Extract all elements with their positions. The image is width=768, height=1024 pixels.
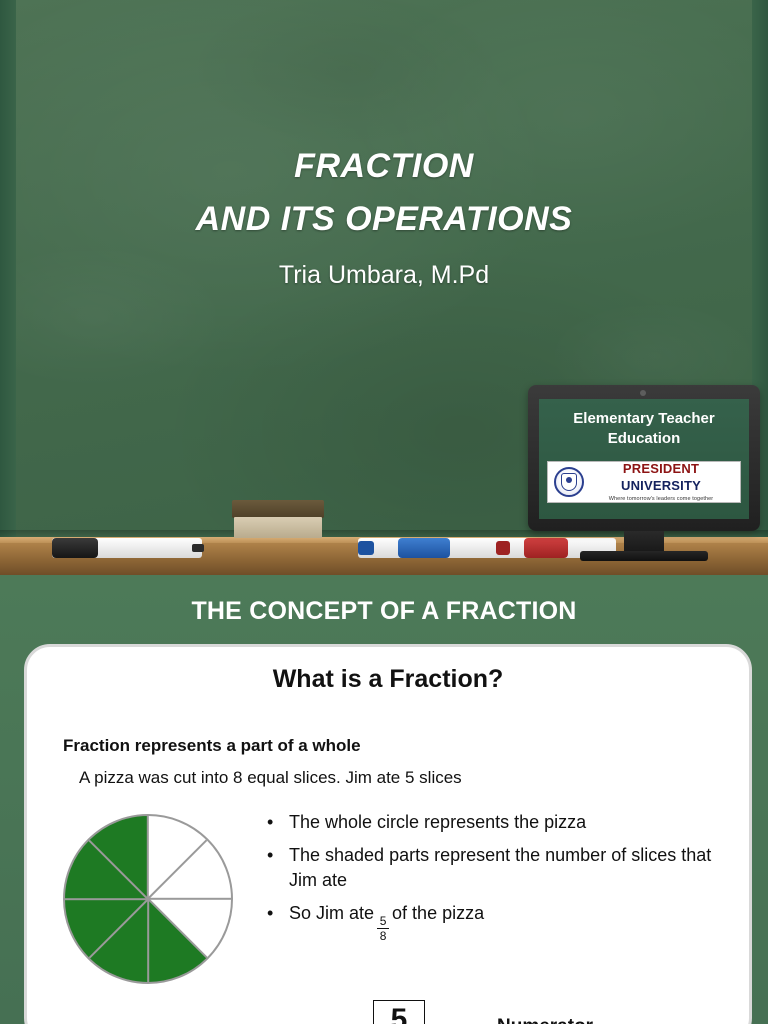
numerator-label: Numerator [497,1016,593,1024]
slide2-heading: THE CONCEPT OF A FRACTION [0,597,768,626]
marker-tip [192,544,204,552]
list-item: • The shaded parts represent the number … [267,843,737,892]
marker-blue [358,538,510,558]
pie-spoke [148,898,231,900]
list-item: • The whole circle represents the pizza [267,810,737,834]
example-statement: A pizza was cut into 8 equal slices. Jim… [79,768,749,788]
bullet-marker-icon: • [267,810,289,834]
university-name-university: UNIVERSITY [621,478,701,493]
monitor-stand-base [580,551,708,561]
bullet-marker-icon: • [267,901,289,942]
list-item: • So Jim ate58of the pizza [267,901,737,942]
bullet-marker-icon: • [267,843,289,892]
bullet-text-2: The shaded parts represent the number of… [289,843,737,892]
monitor-caption: Elementary Teacher Education [539,399,749,448]
pie-spoke [147,816,149,899]
eraser [232,500,324,538]
eraser-felt [234,517,322,538]
bullet-text-3: So Jim ate58of the pizza [289,901,484,942]
pie-spoke [147,899,149,982]
eraser-top [232,500,324,518]
university-name-president: PRESIDENT [623,461,699,476]
numerator-callout-box: 5 [373,1000,425,1024]
marker-cap [398,538,450,558]
body-row: • The whole circle represents the pizza … [27,810,749,1024]
marker-cap [52,538,98,558]
monitor-screen: Elementary Teacher Education PRESIDENT U… [539,399,749,519]
presentation-author: Tria Umbara, M.Pd [0,261,768,290]
monitor-stand-neck [624,531,664,553]
inline-fraction: 58 [377,915,389,942]
bullet-list: • The whole circle represents the pizza … [267,810,737,951]
pizza-pie-diagram [63,814,233,984]
crest-star [566,477,572,483]
university-tagline: Where tomorrow's leaders come together [586,497,736,503]
slide-title-chalkboard: FRACTION AND ITS OPERATIONS Tria Umbara,… [0,0,768,575]
presentation-title-line2: AND ITS OPERATIONS [0,193,768,246]
monitor: Elementary Teacher Education PRESIDENT U… [528,385,760,565]
inline-fraction-numerator: 5 [380,915,387,927]
pie-spoke [65,898,148,900]
marker-tip [496,541,510,555]
monitor-caption-line2: Education [539,429,749,449]
bullet-text-1: The whole circle represents the pizza [289,810,586,834]
lead-statement: Fraction represents a part of a whole [63,736,749,756]
university-wordmark: PRESIDENT UNIVERSITY Where tomorrow's le… [586,461,736,502]
inline-fraction-denominator: 8 [380,930,387,942]
title-block: FRACTION AND ITS OPERATIONS Tria Umbara,… [0,140,768,290]
slide-concept-of-fraction: THE CONCEPT OF A FRACTION What is a Frac… [0,575,768,1024]
content-card: What is a Fraction? Fraction represents … [24,644,752,1024]
webcam-icon [640,390,646,396]
numerator-value: 5 [391,1003,408,1024]
bullet-text-3-suffix: of the pizza [392,903,484,923]
monitor-caption-line1: Elementary Teacher [539,409,749,429]
presentation-title-line1: FRACTION [0,140,768,193]
university-crest-icon [552,465,586,499]
marker-tip [358,541,374,555]
university-logo-card: PRESIDENT UNIVERSITY Where tomorrow's le… [547,461,741,503]
card-title: What is a Fraction? [27,665,749,694]
monitor-bezel: Elementary Teacher Education PRESIDENT U… [528,385,760,531]
bullet-text-3-prefix: So Jim ate [289,903,374,923]
marker-black [52,538,202,558]
